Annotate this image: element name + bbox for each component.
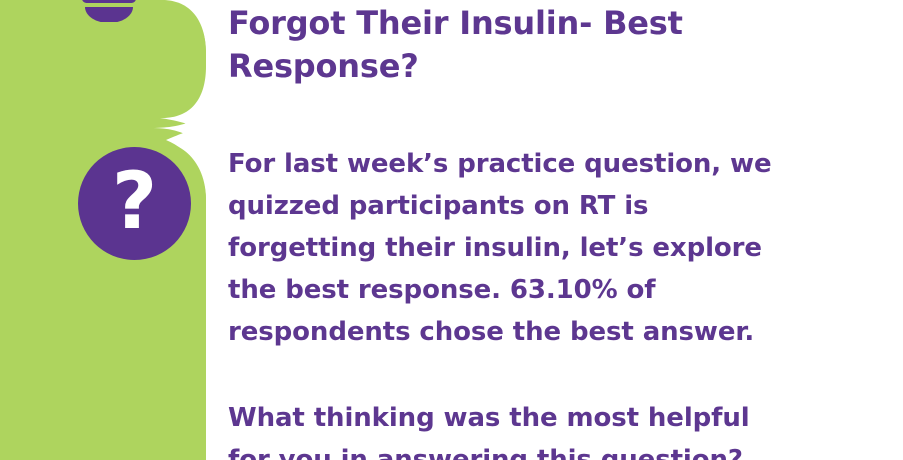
social-card: ? Forgot Their Insulin- Best Response? F… [0, 0, 903, 460]
text-column: Forgot Their Insulin- Best Response? For… [228, 0, 888, 460]
paragraph-prompt: What thinking was the most helpful for y… [228, 397, 888, 460]
paragraph-intro: For last week’s practice question, we qu… [228, 143, 888, 353]
question-mark-badge: ? [78, 147, 191, 260]
lightbulb-icon [80, 0, 138, 22]
page-title: Forgot Their Insulin- Best Response? [228, 0, 888, 88]
question-mark-icon: ? [112, 163, 157, 241]
